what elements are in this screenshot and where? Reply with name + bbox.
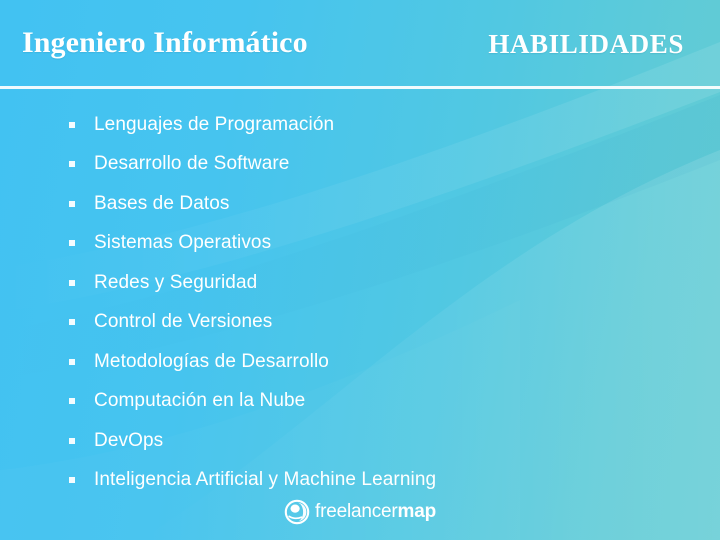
skill-label: Sistemas Operativos	[69, 231, 271, 255]
square-bullet-icon	[69, 319, 75, 325]
logo-word-light: freelancer	[315, 501, 398, 522]
slide-canvas: Ingeniero Informático HABILIDADES Lengua…	[0, 0, 720, 540]
list-item: Metodologías de Desarrollo	[0, 342, 720, 382]
square-bullet-icon	[69, 201, 75, 207]
page-title: Ingeniero Informático	[22, 25, 308, 61]
list-item: Bases de Datos	[0, 184, 720, 224]
list-item: DevOps	[0, 421, 720, 461]
list-item: Desarrollo de Software	[0, 145, 720, 185]
square-bullet-icon	[69, 122, 75, 128]
list-item: Control de Versiones	[0, 303, 720, 343]
square-bullet-icon	[69, 280, 75, 286]
logo-wordmark: freelancermap	[315, 501, 436, 523]
skill-label: DevOps	[69, 429, 163, 453]
skill-label: Desarrollo de Software	[69, 152, 289, 176]
slide-header: Ingeniero Informático HABILIDADES	[0, 0, 720, 89]
square-bullet-icon	[69, 477, 75, 483]
skills-list: Lenguajes de Programación Desarrollo de …	[0, 105, 720, 500]
logo-word-bold: map	[398, 501, 436, 522]
square-bullet-icon	[69, 161, 75, 167]
skill-label: Control de Versiones	[69, 310, 272, 334]
list-item: Lenguajes de Programación	[0, 105, 720, 145]
list-item: Sistemas Operativos	[0, 224, 720, 264]
list-item: Redes y Seguridad	[0, 263, 720, 303]
skill-label: Bases de Datos	[69, 192, 230, 216]
square-bullet-icon	[69, 240, 75, 246]
square-bullet-icon	[69, 359, 75, 365]
skill-label: Inteligencia Artificial y Machine Learni…	[69, 468, 436, 492]
skill-label: Metodologías de Desarrollo	[69, 350, 329, 374]
list-item: Computación en la Nube	[0, 382, 720, 422]
skill-label: Redes y Seguridad	[69, 271, 257, 295]
header-divider	[0, 86, 720, 89]
list-item: Inteligencia Artificial y Machine Learni…	[0, 461, 720, 501]
freelancermap-logo: freelancermap	[0, 499, 720, 525]
freelancermap-globe-icon	[284, 499, 310, 525]
square-bullet-icon	[69, 438, 75, 444]
section-title: HABILIDADES	[488, 27, 684, 61]
square-bullet-icon	[69, 398, 75, 404]
skill-label: Lenguajes de Programación	[69, 113, 334, 137]
skill-label: Computación en la Nube	[69, 389, 305, 413]
